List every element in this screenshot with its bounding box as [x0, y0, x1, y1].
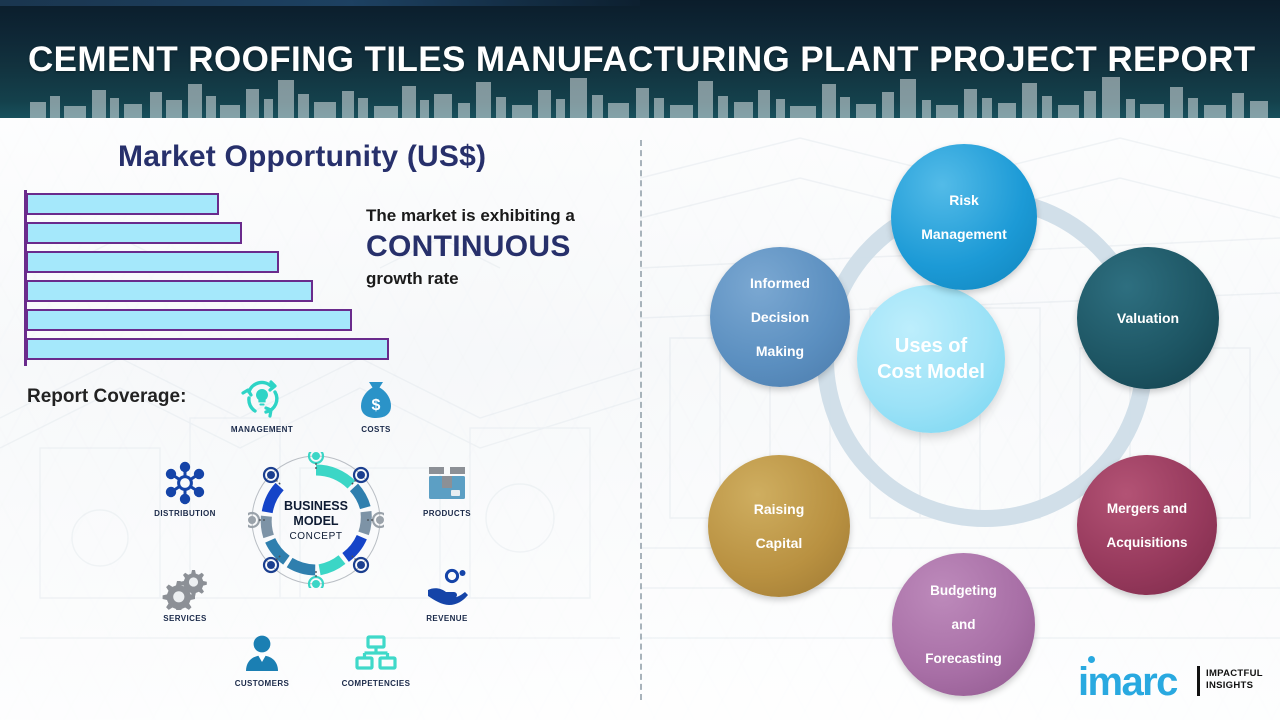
node-label-line-3: Making — [744, 343, 816, 360]
right-panel: Uses of Cost Model Risk Management Valua… — [640, 118, 1280, 720]
coverage-item-services: SERVICES — [137, 565, 233, 623]
callout-line-2: CONTINUOUS — [366, 227, 636, 267]
node-label-line-2: Capital — [748, 535, 811, 552]
center-node-label-2: Cost Model — [877, 361, 985, 383]
coverage-item-label: SERVICES — [137, 614, 233, 623]
header-top-accent-band — [0, 0, 640, 6]
growth-callout: The market is exhibiting a CONTINUOUS gr… — [366, 205, 636, 291]
money-bag-icon: $ — [328, 376, 424, 422]
svg-text:$: $ — [372, 397, 381, 414]
node-label-line-2: and — [919, 616, 1008, 633]
node-informed-decision-making[interactable]: Informed Decision Making — [710, 247, 850, 387]
coverage-item-label: COSTS — [328, 425, 424, 434]
node-label-line-1: Raising — [748, 501, 811, 518]
coverage-item-competencies: COMPETENCIES — [328, 630, 424, 688]
node-label-line-1: Valuation — [1111, 310, 1185, 327]
coverage-item-label: PRODUCTS — [399, 509, 495, 518]
center-node-label-1: Uses of — [895, 335, 967, 357]
node-label-line-2: Acquisitions — [1100, 534, 1193, 551]
table-row — [26, 251, 279, 273]
business-model-center-text: BUSINESS MODEL CONCEPT — [248, 452, 384, 588]
node-label-line-2: Decision — [744, 309, 816, 326]
coverage-item-label: REVENUE — [399, 614, 495, 623]
business-model-subtitle: CONCEPT — [289, 531, 342, 542]
table-row — [26, 222, 242, 244]
coverage-item-distribution: DISTRIBUTION — [137, 460, 233, 518]
node-valuation[interactable]: Valuation — [1077, 247, 1219, 389]
node-budgeting-and-forecasting[interactable]: Budgeting and Forecasting — [892, 553, 1035, 696]
node-label-line-1: Risk — [915, 192, 1013, 209]
coverage-item-products: PRODUCTS — [399, 460, 495, 518]
coverage-item-label: COMPETENCIES — [328, 679, 424, 688]
business-model-title-1: BUSINESS — [284, 499, 348, 514]
imarc-logo[interactable]: imarc IMPACTFUL INSIGHTS — [1075, 660, 1270, 708]
callout-line-1: The market is exhibiting a — [366, 205, 636, 227]
slide-root: CEMENT ROOFING TILES MANUFACTURING PLANT… — [0, 0, 1280, 720]
org-chart-icon — [328, 630, 424, 676]
center-node-uses-of-cost-model: Uses of Cost Model — [857, 285, 1005, 433]
logo-tagline-line-2: INSIGHTS — [1206, 680, 1263, 692]
logo-divider — [1197, 666, 1200, 696]
coverage-item-customers: CUSTOMERS — [214, 630, 310, 688]
coverage-item-label: CUSTOMERS — [214, 679, 310, 688]
recycle-bulb-icon — [214, 376, 310, 422]
table-row — [26, 193, 219, 215]
coverage-item-label: DISTRIBUTION — [137, 509, 233, 518]
slide-header: CEMENT ROOFING TILES MANUFACTURING PLANT… — [0, 0, 1280, 118]
gears-icon — [137, 565, 233, 611]
coverage-item-costs: $ COSTS — [328, 376, 424, 434]
coverage-item-label: MANAGEMENT — [214, 425, 310, 434]
node-label-line-1: Informed — [744, 275, 816, 292]
node-risk-management[interactable]: Risk Management — [891, 144, 1037, 290]
business-model-title-2: MODEL — [293, 514, 338, 529]
callout-line-3: growth rate — [366, 267, 636, 291]
node-raising-capital[interactable]: Raising Capital — [708, 455, 850, 597]
person-user-icon — [214, 630, 310, 676]
package-box-icon — [399, 460, 495, 506]
coverage-item-management: MANAGEMENT — [214, 376, 310, 434]
logo-wordmark: imarc — [1078, 662, 1177, 702]
table-row — [26, 338, 389, 360]
logo-tagline: IMPACTFUL INSIGHTS — [1206, 668, 1263, 692]
node-mergers-and-acquisitions[interactable]: Mergers and Acquisitions — [1077, 455, 1217, 595]
network-nodes-icon — [137, 460, 233, 506]
report-coverage-label: Report Coverage: — [27, 386, 186, 408]
coverage-item-revenue: REVENUE — [399, 565, 495, 623]
table-row — [26, 309, 352, 331]
node-label-line-3: Forecasting — [919, 650, 1008, 667]
table-row — [26, 280, 313, 302]
logo-tagline-line-1: IMPACTFUL — [1206, 668, 1263, 680]
market-opportunity-title: Market Opportunity (US$) — [118, 140, 486, 174]
hand-coin-icon — [399, 565, 495, 611]
node-label-line-2: Management — [915, 226, 1013, 243]
page-title: CEMENT ROOFING TILES MANUFACTURING PLANT… — [28, 40, 1208, 80]
node-label-line-1: Mergers and — [1100, 500, 1193, 517]
business-model-ring-diagram: BUSINESS MODEL CONCEPT — [248, 452, 384, 588]
node-label-line-1: Budgeting — [919, 582, 1008, 599]
